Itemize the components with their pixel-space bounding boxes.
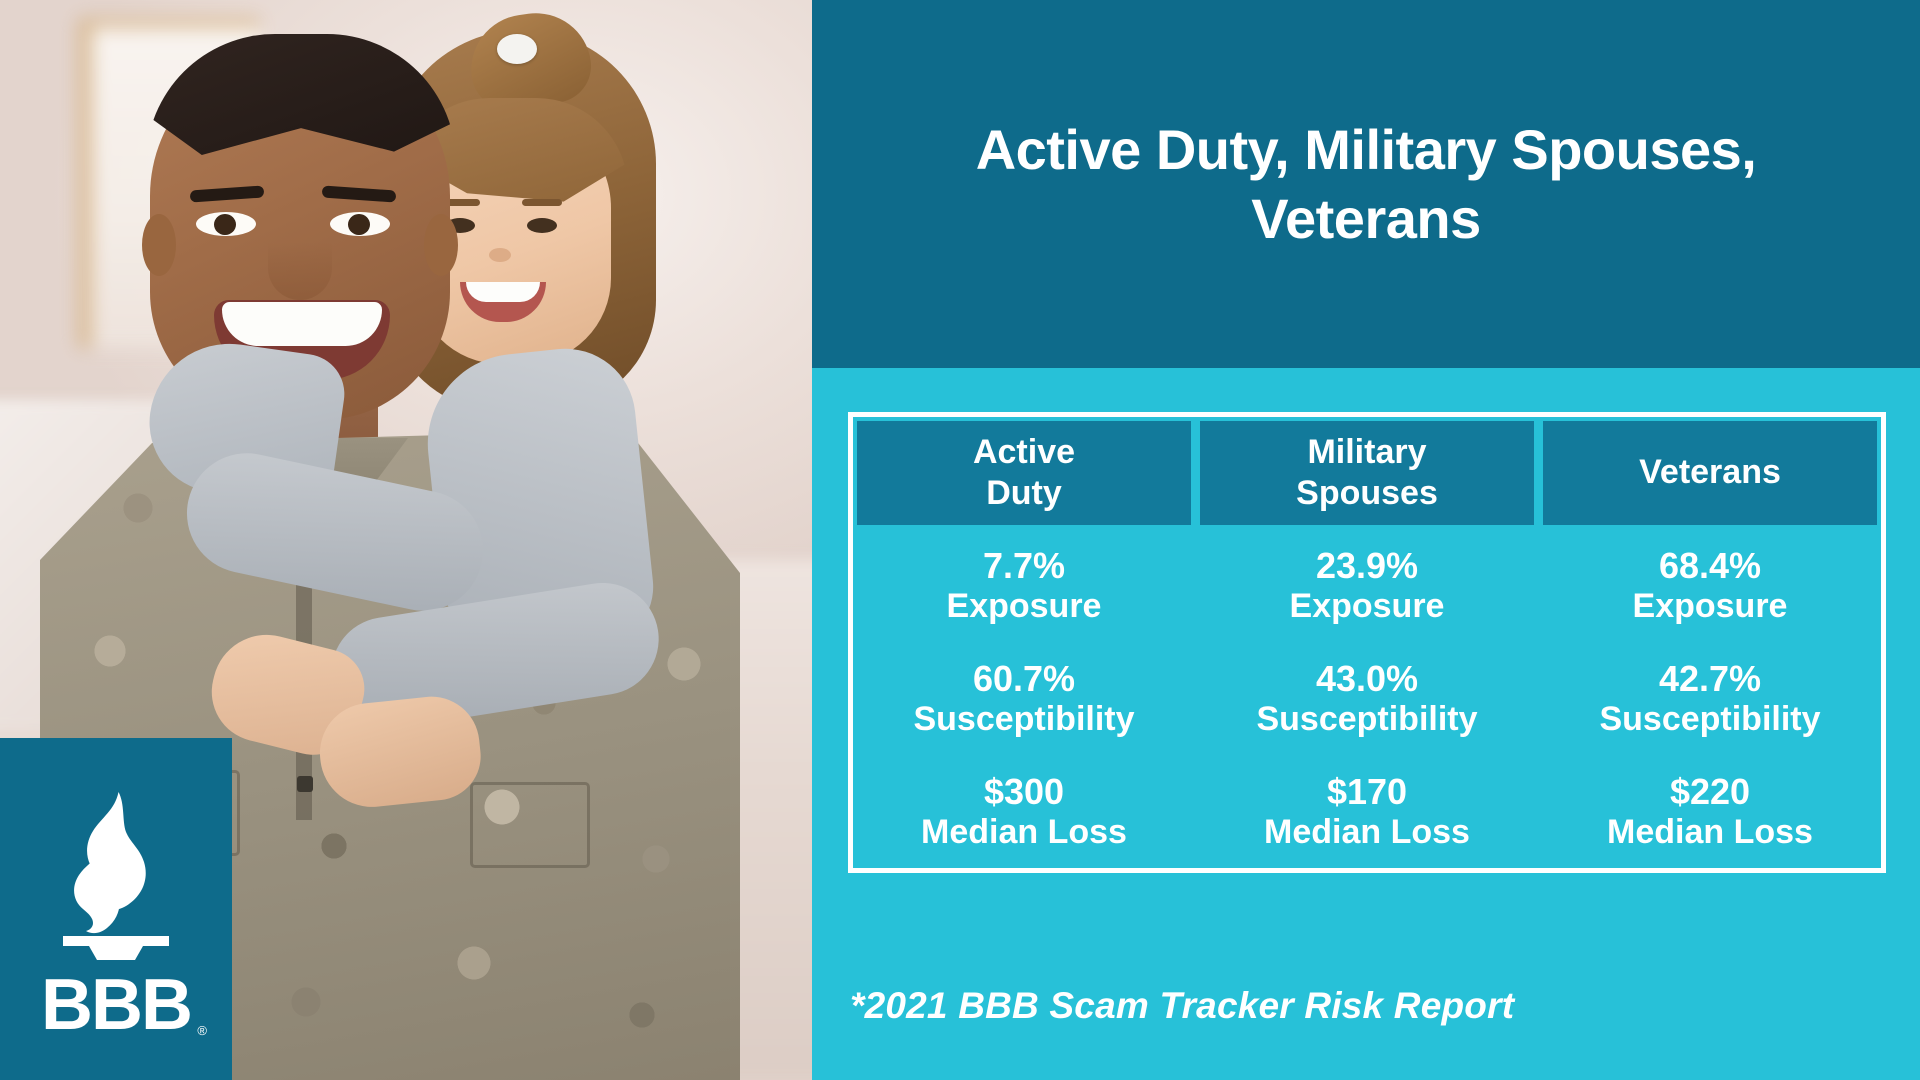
cell-value: 23.9% (1316, 545, 1418, 587)
cell-military-spouses-median-loss: $170 Median Loss (1200, 760, 1534, 864)
cell-label: Exposure (1290, 587, 1445, 626)
infographic-root: BBB® Active Duty, Military Spouses, Vete… (0, 0, 1920, 1080)
stats-panel: Active Duty, Military Spouses, Veterans … (812, 0, 1920, 1080)
uniform-button (297, 776, 313, 792)
table-row-median-loss: $300 Median Loss $170 Median Loss $220 M… (857, 760, 1877, 864)
cell-military-spouses-exposure: 23.9% Exposure (1200, 534, 1534, 638)
cell-value: 60.7% (973, 658, 1075, 700)
cell-value: $220 (1670, 771, 1750, 813)
cell-active-duty-median-loss: $300 Median Loss (857, 760, 1191, 864)
cell-label: Median Loss (1607, 813, 1813, 852)
cell-label: Exposure (1633, 587, 1788, 626)
girl-hair-tie (497, 34, 537, 64)
girl-eye-right (527, 218, 557, 233)
table-row-exposure: 7.7% Exposure 23.9% Exposure 68.4% Expos… (857, 534, 1877, 638)
girl-nose (489, 248, 511, 262)
cell-value: 43.0% (1316, 658, 1418, 700)
page-title-line1: Active Duty, Military Spouses, (976, 118, 1757, 181)
cell-label: Susceptibility (1599, 700, 1820, 739)
cell-value: $170 (1327, 771, 1407, 813)
bbb-wordmark: BBB® (41, 969, 191, 1041)
man-teeth (222, 302, 382, 346)
cell-active-duty-susceptibility: 60.7% Susceptibility (857, 647, 1191, 751)
column-header-line1: Active (973, 432, 1075, 473)
cell-value: 68.4% (1659, 545, 1761, 587)
column-header-active-duty: Active Duty (857, 421, 1191, 525)
page-title: Active Duty, Military Spouses, Veterans (976, 115, 1757, 254)
table-row-susceptibility: 60.7% Susceptibility 43.0% Susceptibilit… (857, 647, 1877, 751)
source-footnote: *2021 BBB Scam Tracker Risk Report (850, 985, 1514, 1027)
column-header-military-spouses: Military Spouses (1200, 421, 1534, 525)
cell-value: 7.7% (983, 545, 1065, 587)
man-ear-left (142, 214, 176, 276)
cell-military-spouses-susceptibility: 43.0% Susceptibility (1200, 647, 1534, 751)
cell-veterans-median-loss: $220 Median Loss (1543, 760, 1877, 864)
header-band: Active Duty, Military Spouses, Veterans (812, 0, 1920, 368)
page-title-line2: Veterans (1251, 187, 1481, 250)
cell-label: Susceptibility (913, 700, 1134, 739)
cell-label: Median Loss (1264, 813, 1470, 852)
stats-table: Active Duty Military Spouses Veterans 7.… (848, 412, 1886, 873)
man-eye-left (196, 212, 256, 236)
bbb-logo: BBB® (0, 738, 232, 1080)
cell-value: 42.7% (1659, 658, 1761, 700)
column-header-line1: Veterans (1639, 452, 1781, 493)
table-header-row: Active Duty Military Spouses Veterans (857, 421, 1877, 525)
cell-veterans-susceptibility: 42.7% Susceptibility (1543, 647, 1877, 751)
cell-label: Susceptibility (1256, 700, 1477, 739)
cell-label: Exposure (947, 587, 1102, 626)
uniform-pocket-right (470, 782, 590, 868)
cell-label: Median Loss (921, 813, 1127, 852)
cell-active-duty-exposure: 7.7% Exposure (857, 534, 1191, 638)
man-eye-right (330, 212, 390, 236)
bbb-torch-flame-icon (55, 790, 177, 967)
man-ear-right (424, 214, 458, 276)
cell-veterans-exposure: 68.4% Exposure (1543, 534, 1877, 638)
column-header-line1: Military (1307, 432, 1426, 473)
column-header-line2: Duty (986, 473, 1062, 514)
girl-eyebrow-right (522, 199, 562, 206)
registered-trademark-icon: ® (197, 1024, 207, 1037)
column-header-line2: Spouses (1296, 473, 1438, 514)
column-header-veterans: Veterans (1543, 421, 1877, 525)
cell-value: $300 (984, 771, 1064, 813)
